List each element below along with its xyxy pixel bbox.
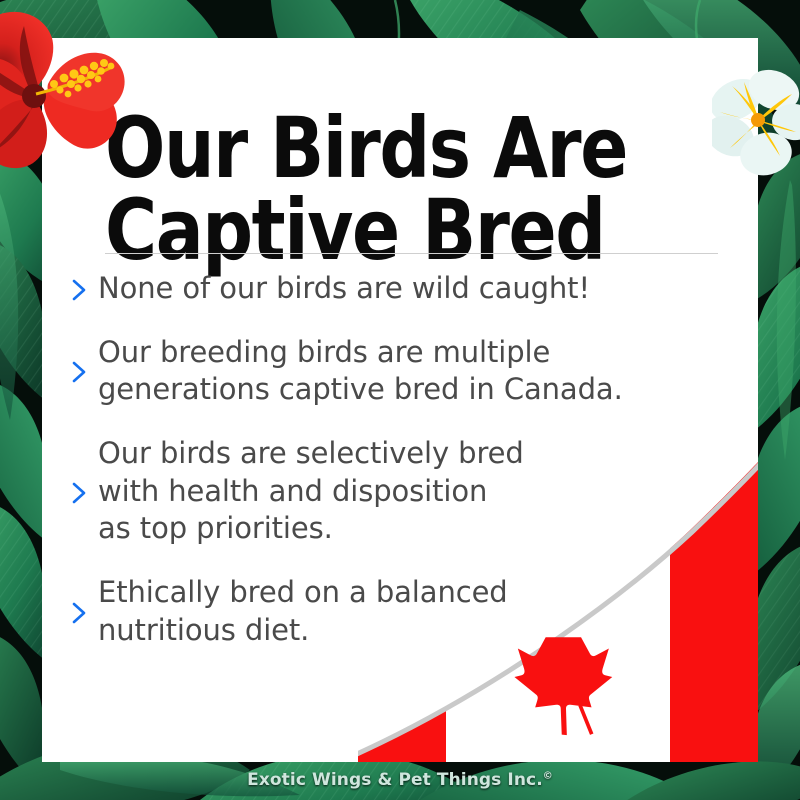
plumeria-svg: [712, 62, 800, 184]
canadian-flag-svg: [358, 462, 758, 762]
chevron-right-icon: [64, 477, 98, 507]
footer-credit: Exotic Wings & Pet Things Inc.©: [0, 770, 800, 790]
list-item-text: None of our birds are wild caught!: [98, 270, 590, 308]
plumeria-flower: [712, 62, 800, 184]
hibiscus-flower: [0, 8, 148, 176]
list-item-line: None of our birds are wild caught!: [98, 270, 590, 308]
title-divider: [105, 253, 718, 254]
list-item-line: generations captive bred in Canada.: [98, 371, 623, 409]
list-item: Our breeding birds are multiple generati…: [64, 334, 754, 409]
poster: Our Birds Are Captive Bred None of our b…: [0, 0, 800, 800]
list-item-text: Our breeding birds are multiple generati…: [98, 334, 623, 409]
list-item-line: Our breeding birds are multiple: [98, 334, 623, 372]
hibiscus-svg: [0, 8, 148, 176]
content-card: Our Birds Are Captive Bred None of our b…: [42, 38, 758, 762]
canadian-flag-emblem: [358, 462, 758, 762]
chevron-right-icon: [64, 356, 98, 386]
chevron-right-icon: [64, 597, 98, 627]
list-item: None of our birds are wild caught!: [64, 270, 754, 308]
title-line-2: Captive Bred: [105, 190, 669, 271]
title-line-1: Our Birds Are: [105, 108, 669, 189]
copyright-mark: ©: [543, 770, 553, 781]
footer-text: Exotic Wings & Pet Things Inc.: [247, 770, 543, 790]
chevron-right-icon: [64, 274, 98, 304]
page-title: Our Birds Are Captive Bred: [105, 108, 669, 271]
